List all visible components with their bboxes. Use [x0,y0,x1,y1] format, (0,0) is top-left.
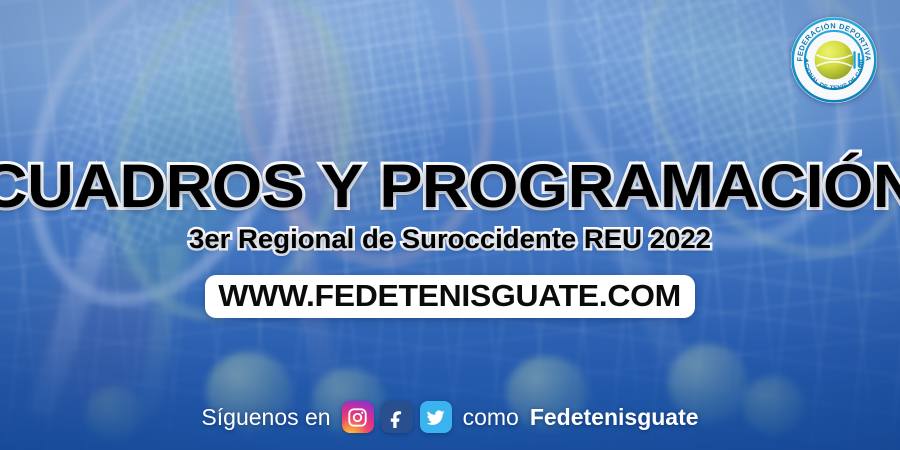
social-icon-group [342,401,452,433]
page-title: CUADROS Y PROGRAMACIÓN [0,156,900,217]
website-url-text: WWW.FEDETENISGUATE.COM [219,280,682,311]
url-pill[interactable]: WWW.FEDETENISGUATE.COM [205,275,694,318]
website-url-banner: WWW.FEDETENISGUATE.COM [0,275,900,318]
poster-content: CUADROS Y PROGRAMACIÓN 3er Regional de S… [0,0,900,450]
poster-subtitle: 3er Regional de Suroccidente REU 2022 [0,226,900,253]
as-label: como [463,406,519,429]
follow-label: Síguenos en [201,406,330,429]
instagram-icon[interactable] [342,401,374,433]
twitter-icon[interactable] [420,401,452,433]
social-handle: Fedetenisguate [530,406,699,429]
social-footer: Síguenos en [0,401,900,433]
facebook-icon[interactable] [381,401,413,433]
poster-banner: FEDERACIÓN DEPORTIVA NACIONAL DE TENIS D… [0,0,900,450]
